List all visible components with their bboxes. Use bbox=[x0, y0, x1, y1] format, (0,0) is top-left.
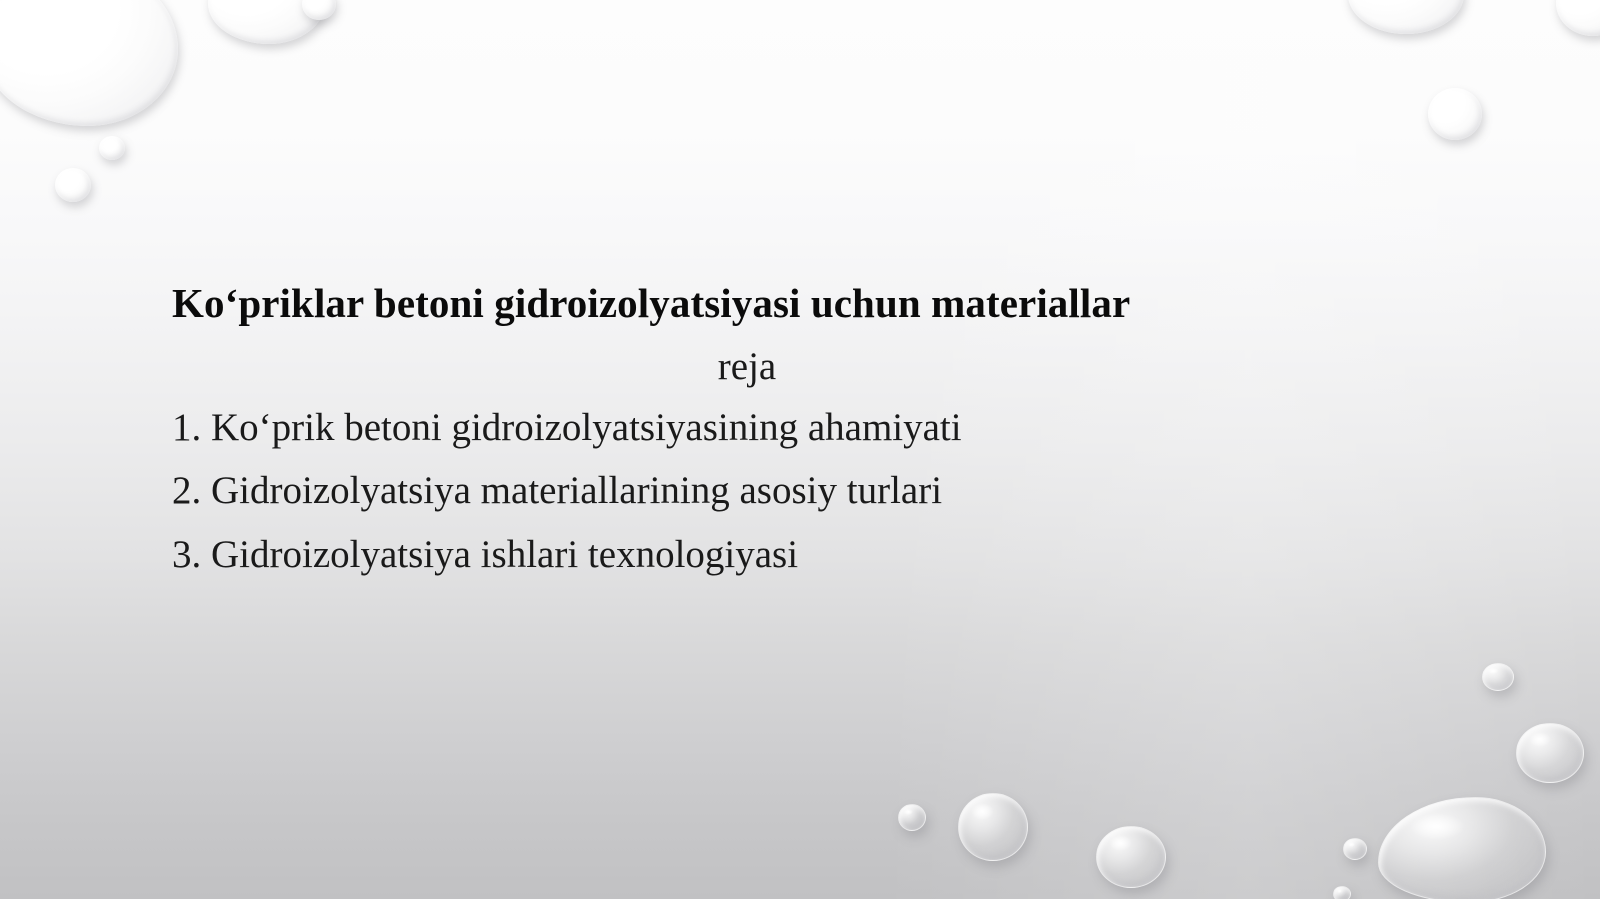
agenda-list: 1. Koʻprik betoni gidroizolyatsiyasining… bbox=[172, 396, 1432, 587]
agenda-item: 1. Koʻprik betoni gidroizolyatsiyasining… bbox=[172, 396, 1432, 460]
water-drop-medium-bottommid bbox=[958, 793, 1028, 861]
slide-subtitle-reja: reja bbox=[172, 344, 1322, 390]
water-drop-medium-topleft bbox=[208, 0, 326, 44]
water-drop-small-bottomright bbox=[1482, 663, 1514, 691]
water-drop-tiny-bottommid bbox=[898, 804, 926, 831]
agenda-item: 3. Gidroizolyatsiya ishlari texnologiyas… bbox=[172, 523, 1432, 587]
water-drop-tiny-bottomright bbox=[1343, 838, 1367, 860]
slide-title: Koʻpriklar betoni gidroizolyatsiyasi uch… bbox=[172, 278, 1432, 330]
presentation-slide: Koʻpriklar betoni gidroizolyatsiyasi uch… bbox=[0, 0, 1600, 899]
water-drop-tiny-topleft bbox=[99, 136, 125, 160]
water-drop-mini-bottomright bbox=[1333, 886, 1351, 899]
water-drop-large-topright bbox=[1348, 0, 1464, 34]
agenda-item: 2. Gidroizolyatsiya materiallarining aso… bbox=[172, 459, 1432, 523]
water-drop-large-bottommid bbox=[1096, 826, 1166, 888]
water-drop-small-topleft bbox=[55, 168, 91, 202]
water-drop-small-topright bbox=[1556, 0, 1600, 36]
water-drop-small-topmid bbox=[1428, 88, 1482, 140]
water-drop-oval-bottomright bbox=[1516, 723, 1584, 783]
water-drop-medium-topmid bbox=[302, 0, 336, 20]
water-drop-blob-bottomright bbox=[1378, 797, 1546, 899]
water-drop-large-topleft bbox=[0, 0, 178, 126]
slide-text-block: Koʻpriklar betoni gidroizolyatsiyasi uch… bbox=[172, 278, 1432, 586]
